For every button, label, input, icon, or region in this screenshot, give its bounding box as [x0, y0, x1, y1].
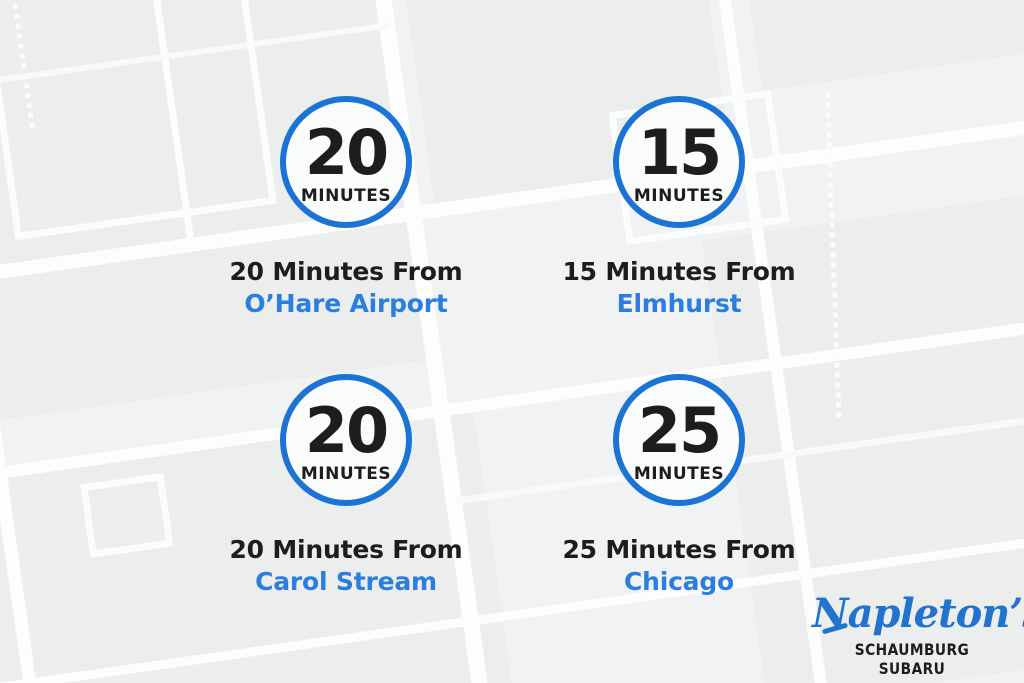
stat-card-carol-stream: 20 MINUTES 20 Minutes From Carol Stream: [166, 374, 526, 598]
stat-caption-line1: 20 Minutes From: [166, 534, 526, 566]
stat-caption: 25 Minutes From Chicago: [499, 534, 859, 598]
stat-card-ohare: 20 MINUTES 20 Minutes From O’Hare Airpor…: [166, 96, 526, 320]
minutes-unit-label: MINUTES: [634, 188, 724, 205]
stat-caption-line1: 25 Minutes From: [499, 534, 859, 566]
stats-grid: 20 MINUTES 20 Minutes From O’Hare Airpor…: [0, 0, 1024, 683]
stat-caption-line1: 15 Minutes From: [499, 256, 859, 288]
promo-graphic: 20 MINUTES 20 Minutes From O’Hare Airpor…: [0, 0, 1024, 683]
stat-caption: 20 Minutes From Carol Stream: [166, 534, 526, 598]
stat-caption-line1: 20 Minutes From: [166, 256, 526, 288]
minutes-badge: 20 MINUTES: [280, 96, 412, 228]
stat-caption-line2: O’Hare Airport: [166, 288, 526, 320]
stat-card-elmhurst: 15 MINUTES 15 Minutes From Elmhurst: [499, 96, 859, 320]
minutes-number: 20: [305, 400, 387, 462]
stat-caption: 20 Minutes From O’Hare Airport: [166, 256, 526, 320]
stat-caption-line2: Carol Stream: [166, 566, 526, 598]
minutes-unit-label: MINUTES: [301, 466, 391, 483]
minutes-badge: 25 MINUTES: [613, 374, 745, 506]
minutes-badge: 15 MINUTES: [613, 96, 745, 228]
stat-card-chicago: 25 MINUTES 25 Minutes From Chicago: [499, 374, 859, 598]
minutes-number: 20: [305, 122, 387, 184]
logo-subtitle: SCHAUMBURG SUBARU: [826, 640, 998, 678]
dealer-logo: Napleton’s SCHAUMBURG SUBARU: [812, 592, 1012, 670]
minutes-number: 25: [638, 400, 720, 462]
minutes-badge: 20 MINUTES: [280, 374, 412, 506]
minutes-unit-label: MINUTES: [301, 188, 391, 205]
minutes-number: 15: [638, 122, 720, 184]
stat-caption-line2: Chicago: [499, 566, 859, 598]
stat-caption: 15 Minutes From Elmhurst: [499, 256, 859, 320]
minutes-unit-label: MINUTES: [634, 466, 724, 483]
stat-caption-line2: Elmhurst: [499, 288, 859, 320]
